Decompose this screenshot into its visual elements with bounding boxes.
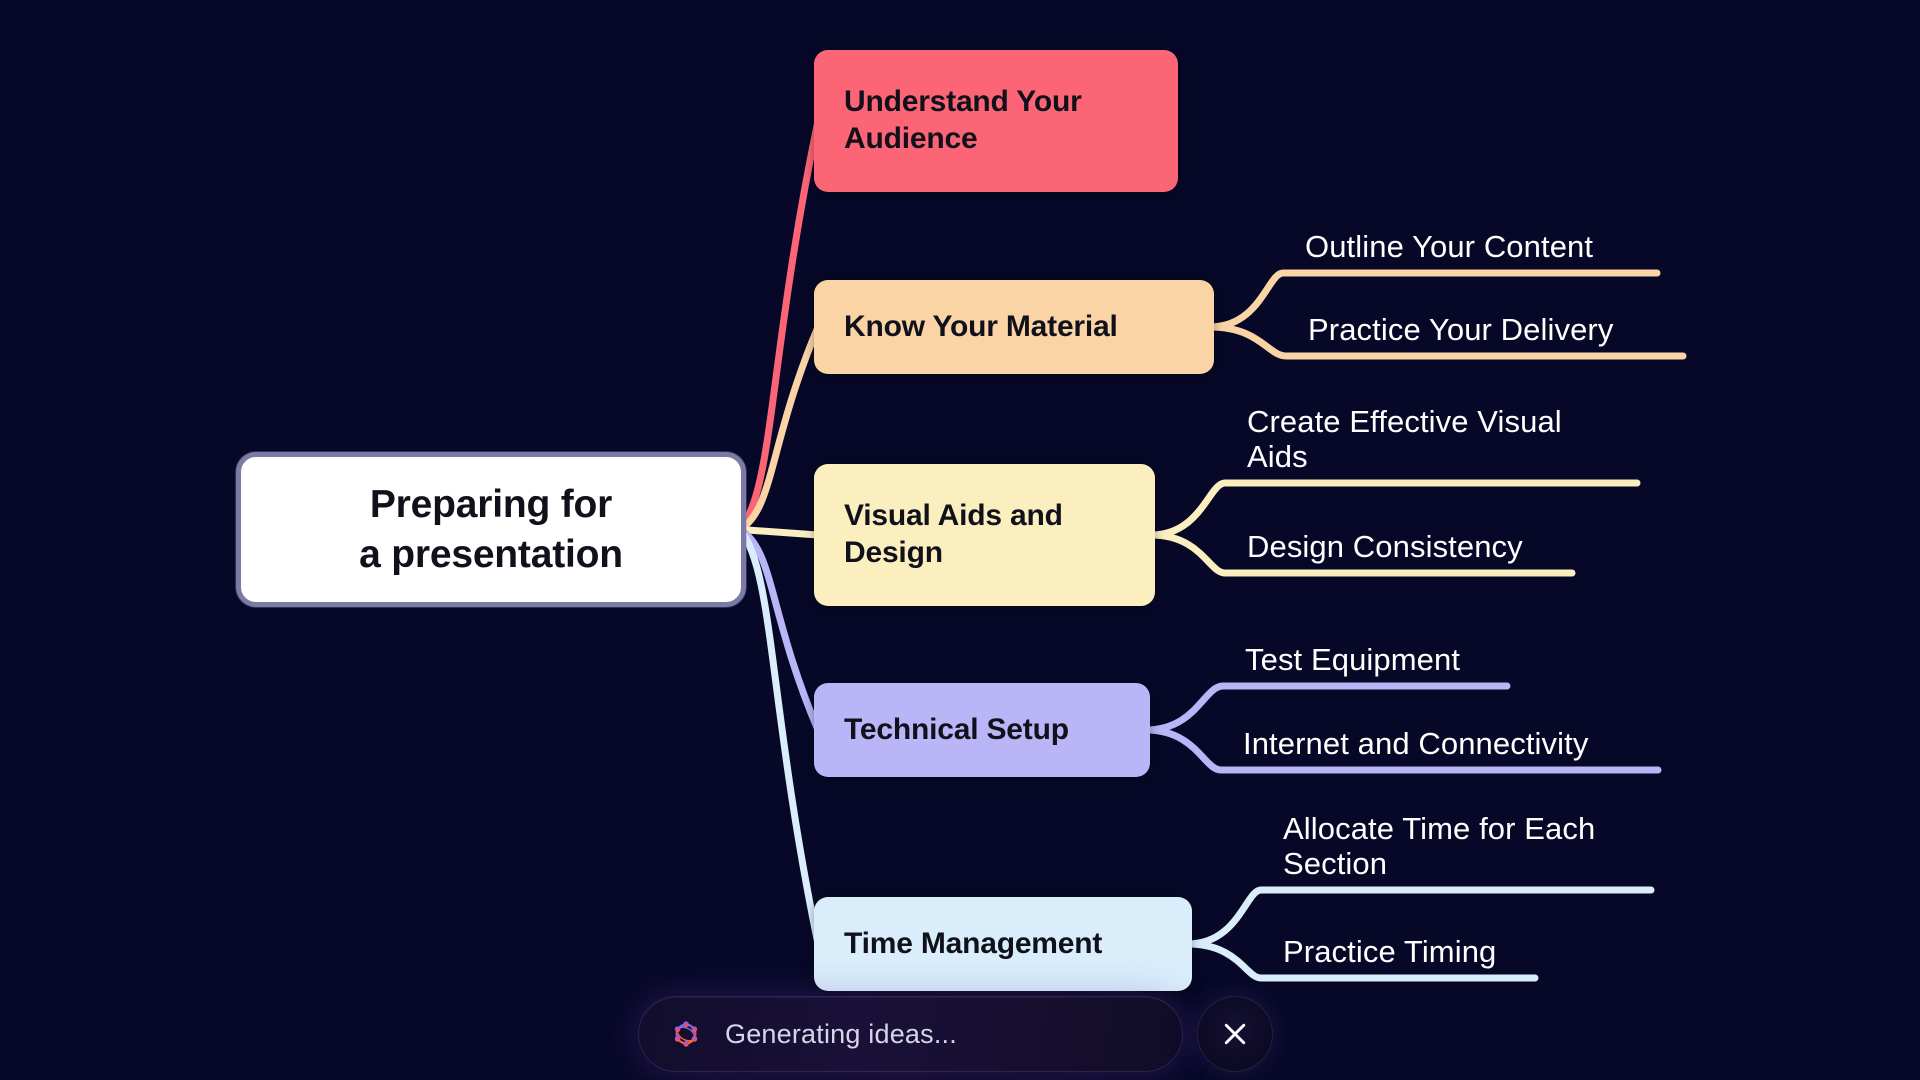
branch-node-understand-your-audience[interactable]: Understand YourAudience bbox=[814, 50, 1178, 192]
branch-node-label: Know Your Material bbox=[844, 309, 1118, 346]
branch-node-visual-aids-and-design[interactable]: Visual Aids andDesign bbox=[814, 464, 1155, 606]
leaf-node-visual-aids-and-design-0[interactable]: Create Effective VisualAids bbox=[1247, 405, 1667, 474]
leaf-node-label: Design Consistency bbox=[1247, 529, 1523, 564]
close-icon bbox=[1220, 1019, 1250, 1049]
branch-node-time-management[interactable]: Time Management bbox=[814, 897, 1192, 991]
root-node-label: Preparing fora presentation bbox=[359, 480, 623, 580]
leaf-node-time-management-1[interactable]: Practice Timing bbox=[1283, 935, 1565, 970]
branch-node-technical-setup[interactable]: Technical Setup bbox=[814, 683, 1150, 777]
status-bar: Generating ideas... bbox=[638, 996, 1273, 1072]
generating-status-pill[interactable]: Generating ideas... bbox=[638, 996, 1183, 1072]
mindmap-canvas[interactable]: Preparing fora presentation Understand Y… bbox=[0, 0, 1920, 1080]
branch-node-know-your-material[interactable]: Know Your Material bbox=[814, 280, 1214, 374]
leaf-node-label: Create Effective VisualAids bbox=[1247, 404, 1562, 474]
branch-node-label: Understand YourAudience bbox=[844, 84, 1082, 157]
branch-node-label: Visual Aids andDesign bbox=[844, 498, 1063, 571]
branch-node-label: Technical Setup bbox=[844, 712, 1069, 749]
leaf-node-label: Practice Your Delivery bbox=[1308, 312, 1613, 347]
leaf-node-label: Outline Your Content bbox=[1305, 229, 1593, 264]
leaf-node-technical-setup-1[interactable]: Internet and Connectivity bbox=[1243, 727, 1688, 762]
close-button[interactable] bbox=[1197, 996, 1273, 1072]
root-node[interactable]: Preparing fora presentation bbox=[236, 452, 746, 607]
branch-node-label: Time Management bbox=[844, 926, 1102, 963]
leaf-node-label: Practice Timing bbox=[1283, 934, 1496, 969]
leaf-node-visual-aids-and-design-1[interactable]: Design Consistency bbox=[1247, 530, 1602, 565]
leaf-node-label: Internet and Connectivity bbox=[1243, 726, 1588, 761]
leaf-node-label: Allocate Time for EachSection bbox=[1283, 811, 1595, 881]
leaf-node-time-management-0[interactable]: Allocate Time for EachSection bbox=[1283, 812, 1681, 881]
leaf-node-know-your-material-1[interactable]: Practice Your Delivery bbox=[1308, 313, 1713, 348]
sparkle-atom-icon bbox=[669, 1017, 703, 1051]
leaf-node-know-your-material-0[interactable]: Outline Your Content bbox=[1305, 230, 1687, 265]
leaf-node-technical-setup-0[interactable]: Test Equipment bbox=[1245, 643, 1537, 678]
status-message: Generating ideas... bbox=[725, 1019, 957, 1050]
leaf-node-label: Test Equipment bbox=[1245, 642, 1460, 677]
